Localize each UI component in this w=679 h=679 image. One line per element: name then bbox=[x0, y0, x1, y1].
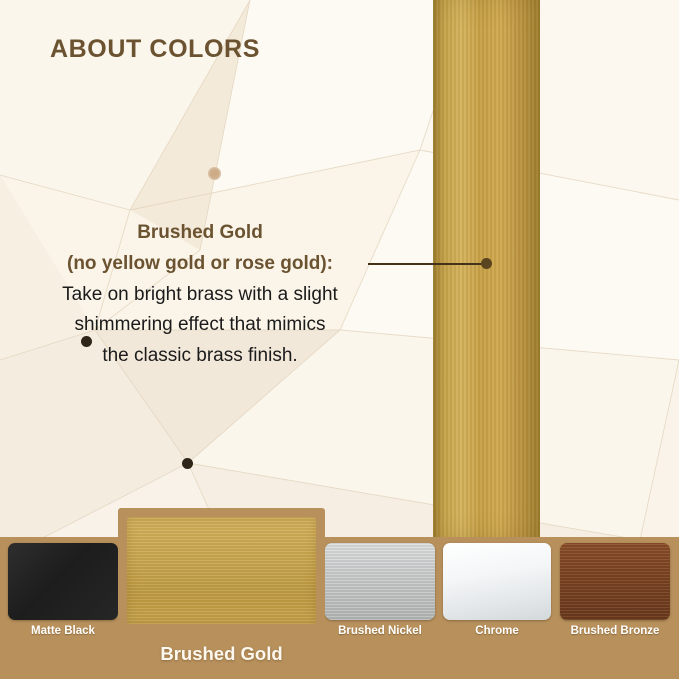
swatch-brushed-gold-featured[interactable] bbox=[118, 508, 325, 633]
callout-lead-line-1: Brushed Gold bbox=[30, 218, 370, 249]
swatch-label-matte-black: Matte Black bbox=[8, 625, 118, 637]
swatch-label-brushed-bronze: Brushed Bronze bbox=[560, 625, 670, 637]
vertex-dot-tan bbox=[208, 167, 221, 180]
swatch-matte-black[interactable]: Matte Black bbox=[8, 543, 118, 643]
page-title: ABOUT COLORS bbox=[50, 35, 260, 64]
swatch-chip-brushed-bronze bbox=[560, 543, 670, 620]
callout-lead-line-2: (no yellow gold or rose gold): bbox=[30, 249, 370, 280]
swatch-chip-brushed-gold bbox=[127, 517, 316, 624]
callout-body-line-3: the classic brass finish. bbox=[30, 341, 370, 372]
swatch-brushed-bronze[interactable]: Brushed Bronze bbox=[560, 543, 670, 643]
callout-text-block: Brushed Gold (no yellow gold or rose gol… bbox=[30, 218, 370, 372]
callout-body-line-1: Take on bright brass with a slight bbox=[30, 280, 370, 311]
callout-leader-line bbox=[368, 263, 487, 265]
callout-leader-dot bbox=[481, 258, 492, 269]
vertex-dot-dark-1 bbox=[81, 336, 92, 347]
swatch-chip-matte-black bbox=[8, 543, 118, 620]
swatch-chip-brushed-nickel bbox=[325, 543, 435, 620]
callout-body-line-2: shimmering effect that mimics bbox=[30, 310, 370, 341]
swatch-chip-chrome bbox=[443, 543, 551, 620]
swatch-chrome[interactable]: Chrome bbox=[443, 543, 551, 643]
about-colors-infographic: ABOUT COLORS Brushed Gold (no yellow gol… bbox=[0, 0, 679, 679]
swatch-label-brushed-gold: Brushed Gold bbox=[118, 643, 325, 665]
swatch-label-chrome: Chrome bbox=[443, 625, 551, 637]
swatch-brushed-nickel[interactable]: Brushed Nickel bbox=[325, 543, 435, 643]
swatch-label-brushed-nickel: Brushed Nickel bbox=[325, 625, 435, 637]
vertex-dot-dark-2 bbox=[182, 458, 193, 469]
